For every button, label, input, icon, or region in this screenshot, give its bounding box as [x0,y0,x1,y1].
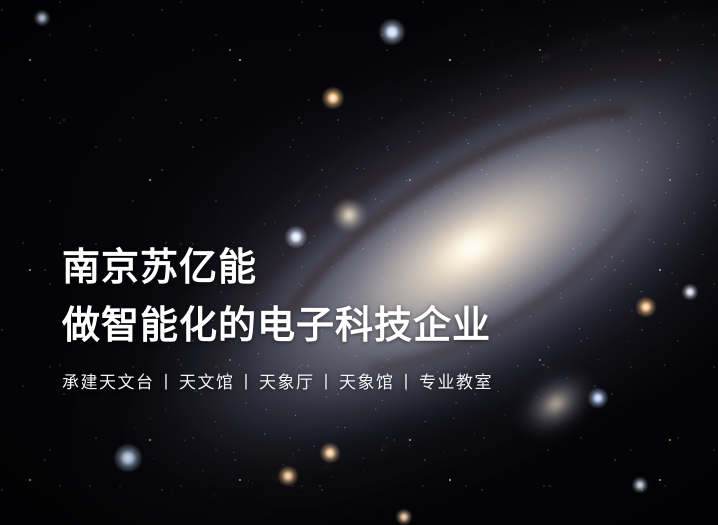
hero-text-block: 南京苏亿能 做智能化的电子科技企业 承建天文台丨天文馆丨天象厅丨天象馆丨专业教室 [62,243,682,395]
subtitle-item: 天象厅 [259,373,315,392]
subtitle-separator: 丨 [235,371,260,395]
subtitle-item: 承建天文台 [62,373,155,392]
hero-banner: 南京苏亿能 做智能化的电子科技企业 承建天文台丨天文馆丨天象厅丨天象馆丨专业教室 [0,0,718,525]
hero-subtitle: 承建天文台丨天文馆丨天象厅丨天象馆丨专业教室 [62,371,682,395]
subtitle-item: 专业教室 [419,373,493,392]
headline-line-2: 做智能化的电子科技企业 [62,301,682,351]
subtitle-separator: 丨 [395,371,420,395]
subtitle-item: 天文馆 [179,373,235,392]
subtitle-item: 天象馆 [339,373,395,392]
subtitle-separator: 丨 [155,371,180,395]
headline-line-1: 南京苏亿能 [62,243,682,293]
subtitle-separator: 丨 [315,371,340,395]
